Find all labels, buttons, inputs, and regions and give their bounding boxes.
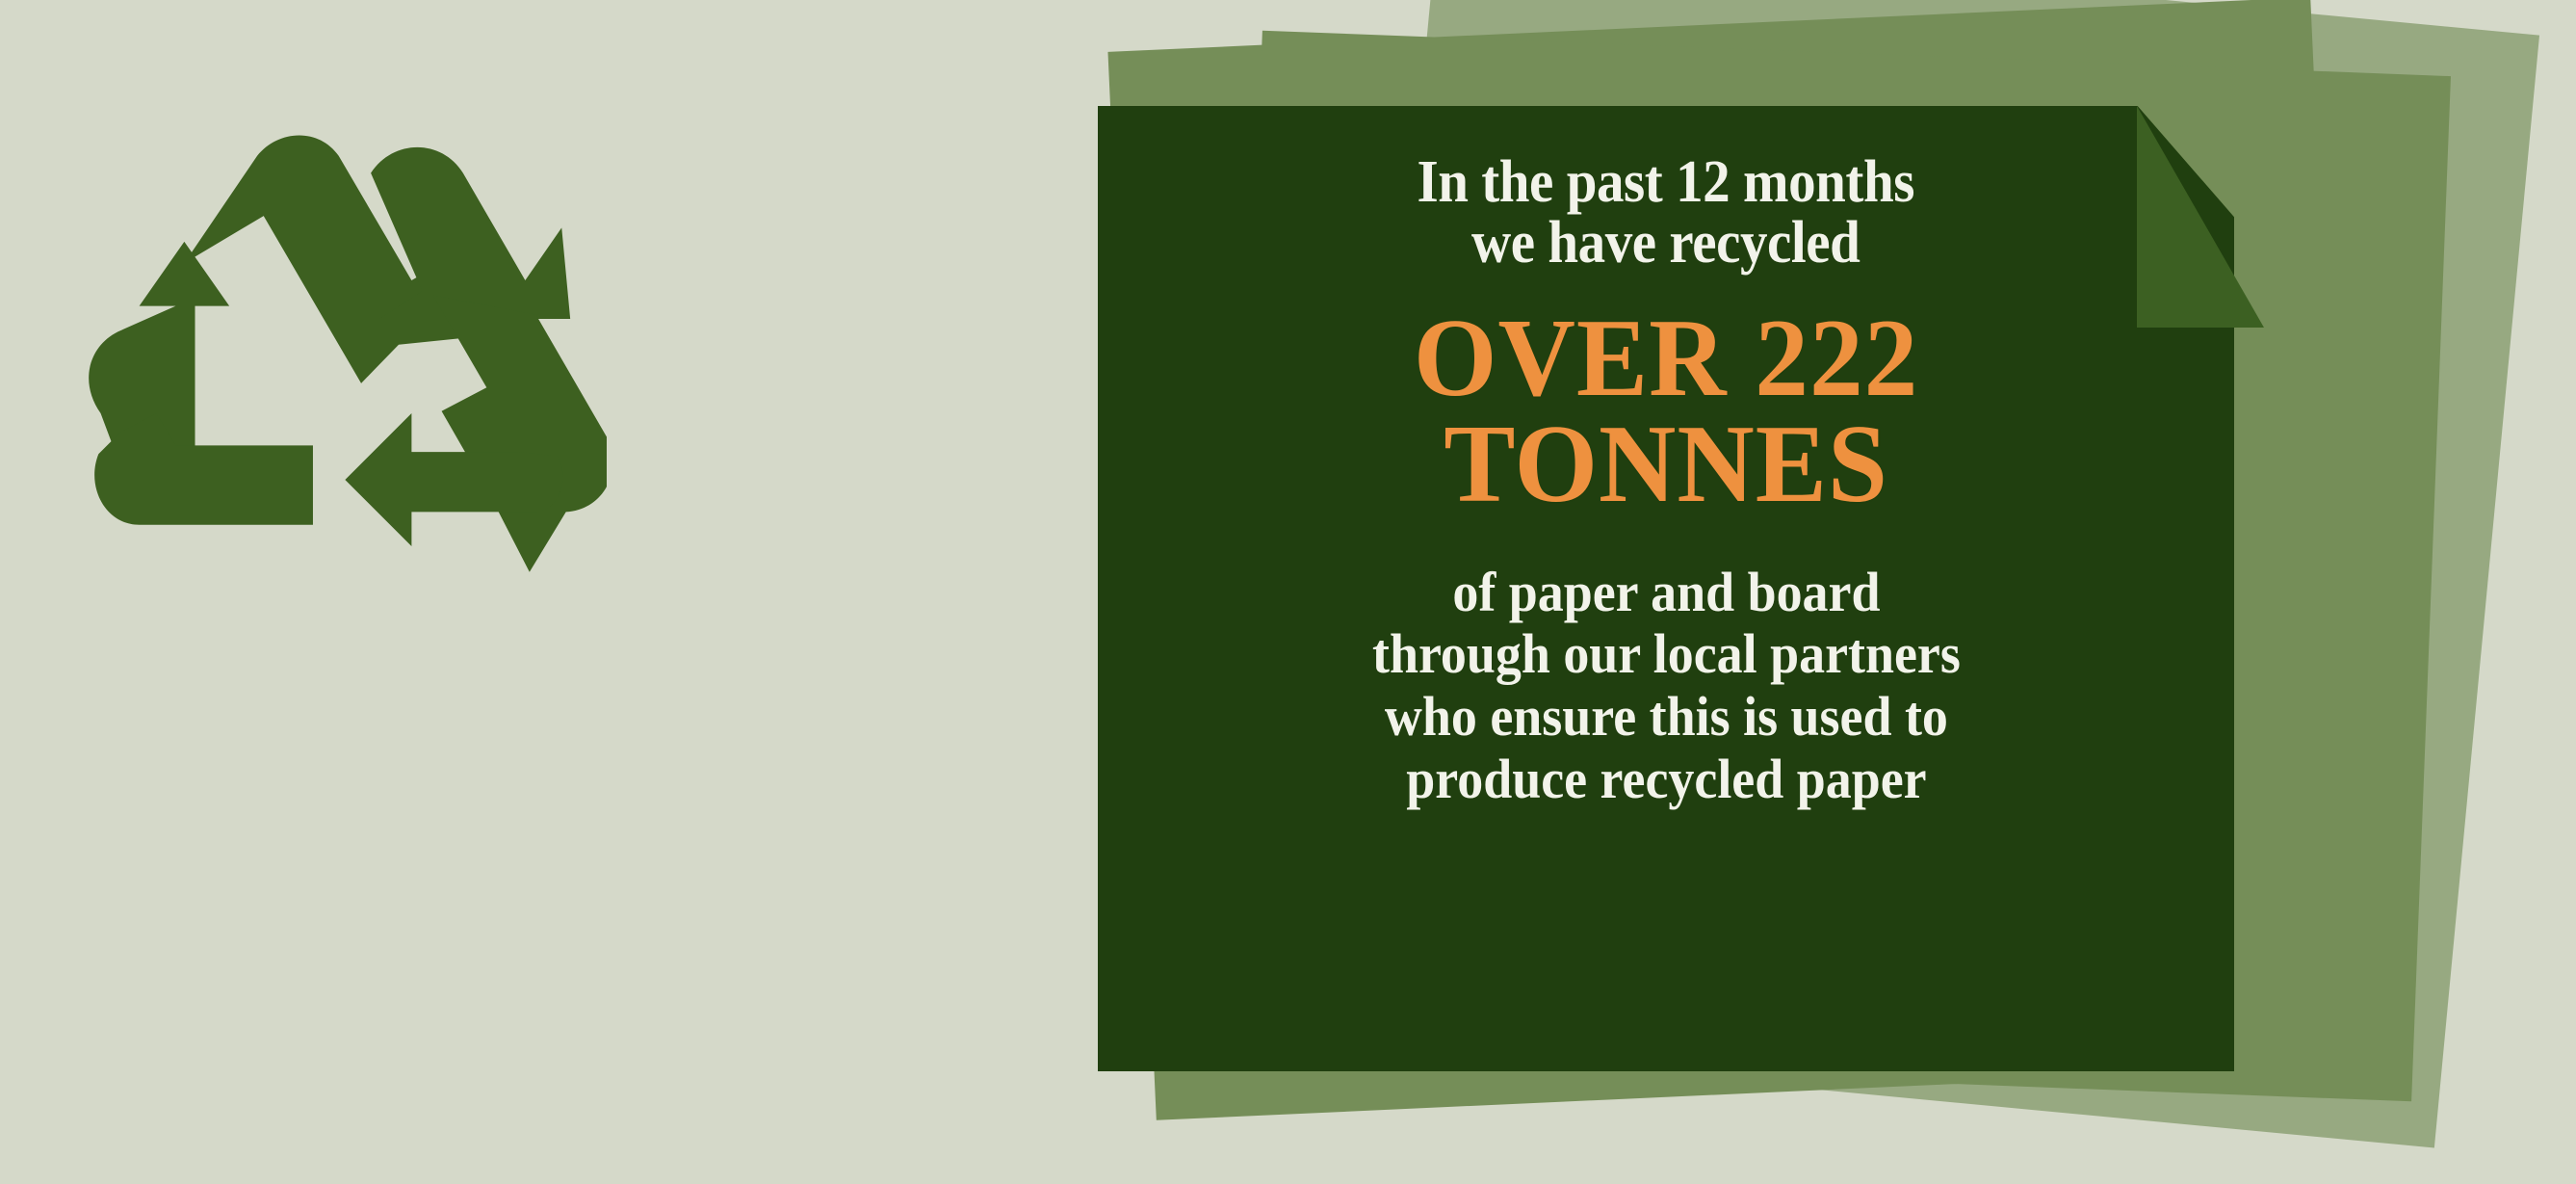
highlight-line-2: TONNES (1414, 412, 1918, 517)
highlight-heading: OVER 222 TONNES (1414, 306, 1918, 516)
body-line-3: who ensure this is used to (1372, 686, 1961, 749)
body-line-4: produce recycled paper (1372, 749, 1961, 811)
intro-heading: In the past 12 months we have recycled (1418, 152, 1914, 274)
body-line-2: through our local partners (1372, 623, 1961, 686)
body-line-1: of paper and board (1372, 562, 1961, 624)
paper-stack: In the past 12 months we have recycled O… (1002, 0, 2576, 1184)
highlight-line-1: OVER 222 (1414, 306, 1918, 411)
body-copy: of paper and board through our local par… (1372, 562, 1961, 812)
recycle-icon (58, 92, 607, 641)
recycling-statistic-banner: In the past 12 months we have recycled O… (0, 0, 2576, 1184)
intro-line-1: In the past 12 months (1418, 152, 1914, 213)
intro-line-2: we have recycled (1418, 213, 1914, 274)
card-text-block: In the past 12 months we have recycled O… (1098, 106, 2234, 1071)
